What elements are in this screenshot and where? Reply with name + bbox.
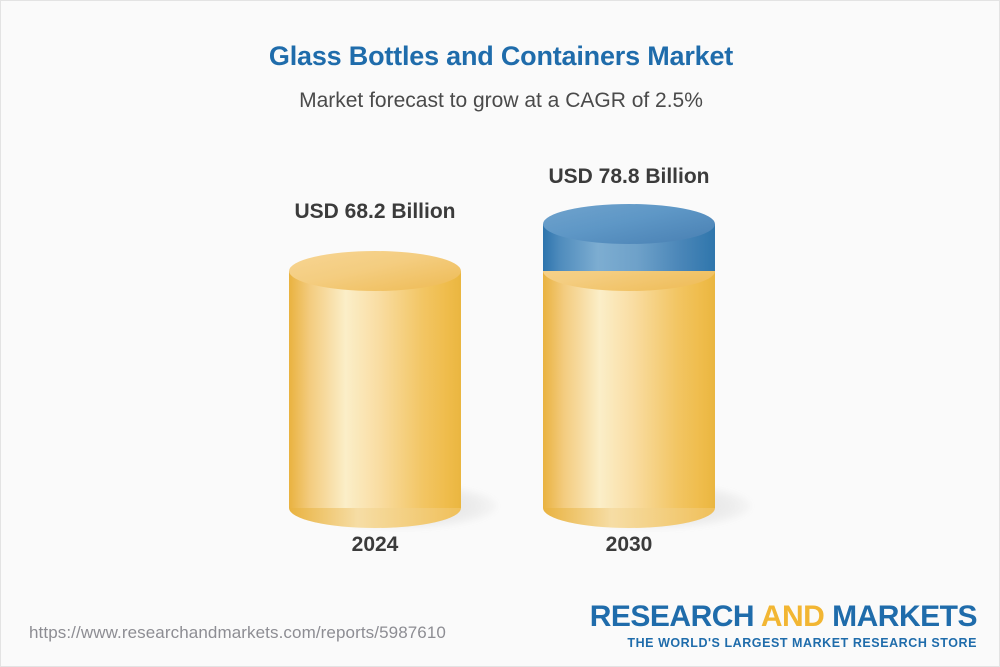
cylinder-top-ellipse-2030: [543, 204, 715, 244]
logo-research-text: RESEARCH: [590, 600, 754, 633]
bar-segment-growth-2030: [543, 204, 715, 291]
value-label-2030: USD 78.8 Billion: [459, 165, 799, 189]
brand-logo[interactable]: RESEARCH AND MARKETS THE WORLD'S LARGEST…: [590, 601, 977, 650]
logo-wordmark: RESEARCH AND MARKETS: [590, 601, 977, 633]
logo-and-text: AND: [761, 600, 825, 633]
category-label-2030: 2030: [459, 533, 799, 557]
bar-cylinder-2024[interactable]: [289, 251, 461, 516]
logo-markets-text: MARKETS: [832, 600, 977, 633]
cylinder-body-lower-2030: [543, 271, 715, 508]
logo-tagline: THE WORLD'S LARGEST MARKET RESEARCH STOR…: [590, 636, 977, 650]
cylinder-top-ellipse-2024: [289, 251, 461, 291]
report-url[interactable]: https://www.researchandmarkets.com/repor…: [29, 623, 446, 643]
cylinder-body-2024: [289, 271, 461, 508]
value-label-2024: USD 68.2 Billion: [205, 200, 545, 224]
plot-area: USD 68.2 Billion 2024 USD 78.8 Billion: [1, 1, 1000, 601]
bar-cylinder-2030[interactable]: [543, 204, 715, 516]
bar-segment-base-2024: [289, 251, 461, 516]
chart-canvas: Glass Bottles and Containers Market Mark…: [0, 0, 1000, 667]
